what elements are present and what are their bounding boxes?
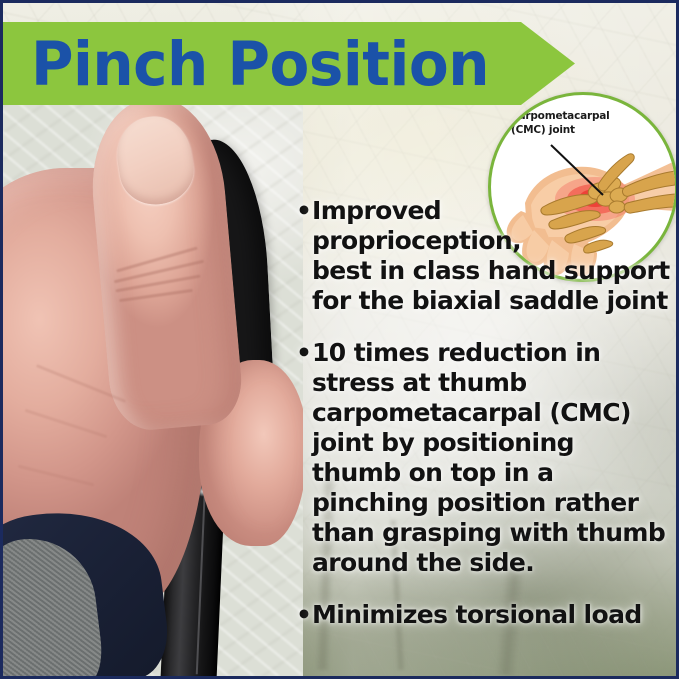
cmc-label-line-2: (CMC) joint <box>511 123 610 137</box>
hand-gripping-cane-photo <box>3 82 303 676</box>
page-title: Pinch Position <box>3 33 489 93</box>
bullet-text: Minimizes torsional load <box>312 600 674 630</box>
bullet-text: 10 times reduction in stress at thumb ca… <box>312 338 674 578</box>
title-banner: Pinch Position <box>3 22 575 105</box>
cmc-label: Carpometacarpal (CMC) joint <box>511 109 610 137</box>
bullet-item: • Minimizes torsional load <box>296 600 674 630</box>
benefits-bullet-list: • Improved proprioception, best in class… <box>296 196 674 630</box>
bullet-item: • 10 times reduction in stress at thumb … <box>296 338 674 578</box>
infographic-root: Pinch Position <box>0 0 679 679</box>
bullet-marker-icon: • <box>296 338 312 368</box>
thumbnail <box>112 111 199 209</box>
bullet-text: Improved proprioception, best in class h… <box>312 196 674 316</box>
bullet-marker-icon: • <box>296 196 312 226</box>
bullet-marker-icon: • <box>296 600 312 630</box>
cmc-label-line-1: Carpometacarpal <box>511 109 610 123</box>
bullet-item: • Improved proprioception, best in class… <box>296 196 674 316</box>
